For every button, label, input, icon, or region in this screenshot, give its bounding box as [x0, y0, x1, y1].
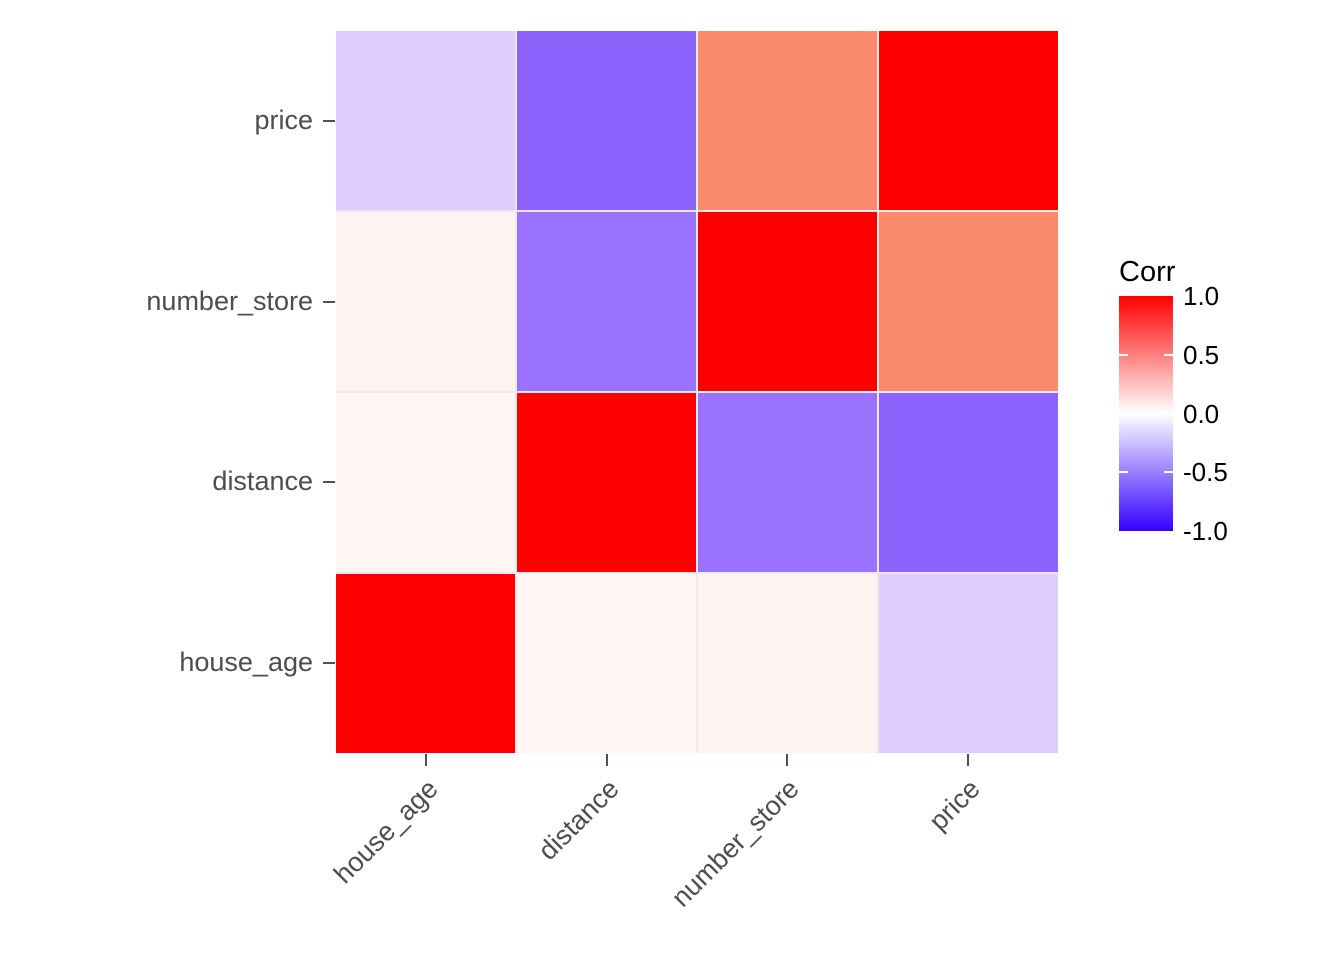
heatmap-cell [517, 31, 696, 210]
heatmap-panel [336, 31, 1058, 753]
heatmap-cell [879, 212, 1058, 391]
x-axis-label-number-store: number_store [667, 775, 804, 912]
legend-tick-mark [1164, 354, 1173, 356]
legend-tick-mark [1164, 471, 1173, 473]
x-axis-tick [786, 754, 788, 766]
y-axis-tick [323, 120, 335, 122]
legend-title: Corr [1119, 258, 1175, 287]
heatmap-cell [698, 574, 877, 753]
heatmap-cell [336, 393, 515, 572]
y-axis-label-number-store: number_store [146, 288, 313, 315]
heatmap-cell [879, 574, 1058, 753]
heatmap-cell [517, 574, 696, 753]
legend-tick-mark [1119, 413, 1128, 415]
correlation-heatmap-plot: pricenumber_storedistancehouse_age house… [0, 0, 1344, 960]
y-axis-label-distance: distance [212, 468, 313, 495]
heatmap-cell [517, 393, 696, 572]
legend-tick-label: -0.5 [1183, 459, 1228, 485]
legend-tick-label: 0.5 [1183, 342, 1219, 368]
heatmap-cell [517, 212, 696, 391]
x-axis-label-price: price [924, 775, 984, 835]
y-axis-label-house-age: house_age [179, 649, 313, 676]
heatmap-cell [879, 31, 1058, 210]
x-axis-tick [606, 754, 608, 766]
y-axis-tick [323, 481, 335, 483]
y-axis-label-price: price [254, 107, 313, 134]
legend-tick-mark [1119, 354, 1128, 356]
legend-tick-mark [1119, 471, 1128, 473]
heatmap-cell [698, 212, 877, 391]
heatmap-cell [879, 393, 1058, 572]
heatmap-cell [336, 574, 515, 753]
x-axis-label-house-age: house_age [330, 775, 444, 889]
y-axis-tick [323, 662, 335, 664]
legend-tick-label: -1.0 [1183, 518, 1228, 544]
heatmap-cell [698, 393, 877, 572]
legend-tick-label: 1.0 [1183, 283, 1219, 309]
y-axis-tick [323, 301, 335, 303]
legend-tick-mark [1164, 413, 1173, 415]
heatmap-cell [698, 31, 877, 210]
x-axis-tick [425, 754, 427, 766]
heatmap-cell [336, 212, 515, 391]
heatmap-grid [336, 31, 1058, 753]
legend-tick-label: 0.0 [1183, 401, 1219, 427]
heatmap-cell [336, 31, 515, 210]
x-axis-label-distance: distance [534, 775, 624, 865]
x-axis-tick [967, 754, 969, 766]
